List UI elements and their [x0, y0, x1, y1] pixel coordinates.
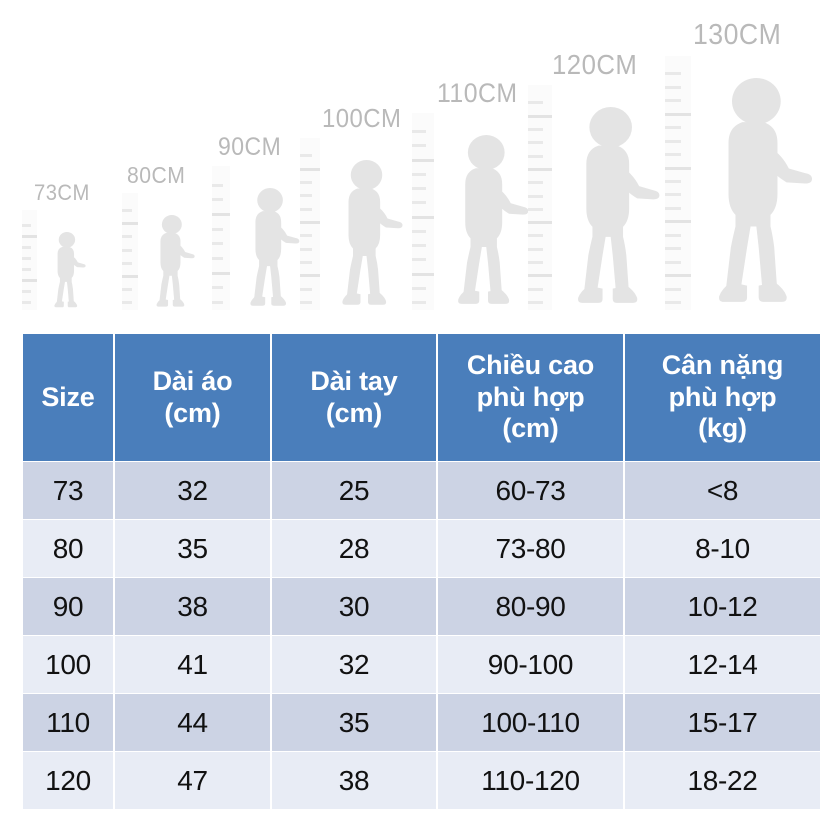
ruler-tick	[528, 288, 543, 291]
cell-sleeve-length: 38	[272, 752, 436, 809]
cell-size: 100	[23, 636, 113, 693]
header-line: (kg)	[698, 413, 747, 443]
child-silhouette-icon	[242, 188, 305, 310]
ruler-tick	[22, 268, 31, 271]
ruler-tick	[528, 261, 543, 264]
ruler-tick	[665, 207, 681, 210]
header-line: (cm)	[502, 413, 558, 443]
cell-shirt-length: 47	[115, 752, 270, 809]
ruler-tick	[212, 184, 223, 187]
ruler-tick	[528, 155, 543, 158]
ruler-tick	[300, 181, 312, 184]
child-silhouette-icon	[332, 160, 410, 310]
height-label-73cm: 73CM	[34, 180, 90, 206]
ruler-tick	[22, 279, 37, 282]
ruler-tick	[122, 301, 132, 304]
ruler-tick	[665, 274, 691, 277]
column-header-size: Size	[23, 334, 113, 461]
ruler-tick	[412, 144, 426, 147]
ruler-tick	[665, 86, 681, 89]
cell-weight: 8-10	[625, 520, 820, 577]
ruler-tick	[665, 167, 691, 170]
ruler-tick	[528, 234, 543, 237]
cell-size: 120	[23, 752, 113, 809]
table-row: 80352873-808-10	[23, 520, 820, 577]
ruler-tick	[122, 235, 132, 238]
child-silhouette-icon	[49, 232, 90, 310]
ruler-tick	[412, 244, 426, 247]
figure-group-130cm	[665, 32, 826, 310]
ruler-tick	[528, 221, 552, 224]
column-header-sleeve-length: Dài tay (cm)	[272, 334, 436, 461]
ruler-tick	[528, 301, 543, 304]
table-row: 1104435100-11015-17	[23, 694, 820, 751]
ruler-tick	[22, 301, 31, 304]
ruler-tick	[412, 187, 426, 190]
header-line: (cm)	[326, 398, 382, 428]
cell-shirt-length: 35	[115, 520, 270, 577]
ruler-tick	[412, 130, 426, 133]
height-label-100cm: 100CM	[322, 103, 401, 134]
cell-height: 100-110	[438, 694, 623, 751]
ruler-tick	[412, 273, 434, 276]
ruler-tick	[665, 153, 681, 156]
cell-height: 110-120	[438, 752, 623, 809]
cell-sleeve-length: 32	[272, 636, 436, 693]
ruler-tick	[300, 208, 312, 211]
ruler-tick	[412, 230, 426, 233]
ruler-tick	[412, 159, 434, 162]
measuring-ruler-icon	[528, 85, 552, 310]
height-label-90cm: 90CM	[218, 133, 281, 162]
ruler-tick	[665, 234, 681, 237]
ruler-tick	[122, 288, 132, 291]
cell-size: 73	[23, 462, 113, 519]
cell-size: 80	[23, 520, 113, 577]
header-line: Chiều cao	[467, 350, 594, 380]
figure-group-90cm	[212, 142, 307, 310]
height-chart-illustration: 73CM80CM90CM100CM110CM120CM130CM	[0, 0, 837, 320]
cell-shirt-length: 38	[115, 578, 270, 635]
ruler-tick	[665, 180, 681, 183]
ruler-tick	[528, 168, 552, 171]
header-line: Dài áo	[153, 366, 233, 396]
header-line: Dài tay	[310, 366, 397, 396]
ruler-tick	[122, 249, 132, 252]
ruler-tick	[22, 224, 31, 227]
cell-height: 90-100	[438, 636, 623, 693]
ruler-tick	[665, 113, 691, 116]
ruler-tick	[412, 258, 426, 261]
ruler-tick	[665, 99, 681, 102]
table-row: 100413290-10012-14	[23, 636, 820, 693]
ruler-tick	[665, 72, 681, 75]
ruler-tick	[528, 181, 543, 184]
cell-sleeve-length: 28	[272, 520, 436, 577]
figure-group-120cm	[528, 61, 672, 310]
ruler-tick	[665, 301, 681, 304]
ruler-tick	[528, 274, 552, 277]
measuring-ruler-icon	[412, 113, 434, 310]
ruler-tick	[665, 193, 681, 196]
header-line: phù hợp	[669, 382, 777, 412]
ruler-tick	[665, 140, 681, 143]
child-silhouette-icon	[150, 215, 199, 310]
ruler-tick	[300, 248, 312, 251]
height-label-120cm: 120CM	[552, 49, 637, 81]
child-silhouette-icon	[703, 78, 824, 310]
ruler-tick	[300, 234, 312, 237]
ruler-tick	[212, 228, 223, 231]
figure-group-80cm	[122, 169, 201, 310]
ruler-tick	[300, 194, 312, 197]
header-line: Size	[41, 382, 94, 412]
cell-shirt-length: 41	[115, 636, 270, 693]
column-header-shirt-length: Dài áo (cm)	[115, 334, 270, 461]
cell-height: 80-90	[438, 578, 623, 635]
height-label-130cm: 130CM	[693, 19, 781, 52]
cell-weight: <8	[625, 462, 820, 519]
cell-height: 73-80	[438, 520, 623, 577]
measuring-ruler-icon	[300, 138, 320, 310]
ruler-tick	[300, 274, 320, 277]
column-header-weight: Cân nặng phù hợp (kg)	[625, 334, 820, 461]
ruler-tick	[300, 301, 312, 304]
table-row: 73322560-73<8	[23, 462, 820, 519]
ruler-tick	[528, 208, 543, 211]
child-silhouette-icon	[564, 107, 670, 310]
table-body: 73322560-73<880352873-808-1090383080-901…	[23, 462, 820, 809]
cell-weight: 12-14	[625, 636, 820, 693]
cell-sleeve-length: 25	[272, 462, 436, 519]
ruler-tick	[528, 141, 543, 144]
ruler-tick	[212, 286, 223, 289]
ruler-tick	[212, 272, 230, 275]
ruler-tick	[412, 173, 426, 176]
ruler-tick	[528, 248, 543, 251]
ruler-tick	[300, 221, 320, 224]
ruler-tick	[122, 209, 132, 212]
ruler-tick	[528, 128, 543, 131]
ruler-tick	[412, 301, 426, 304]
ruler-tick	[212, 301, 223, 304]
ruler-tick	[300, 168, 320, 171]
header-row: Size Dài áo (cm) Dài tay (cm) Chiều cao …	[23, 334, 820, 461]
ruler-tick	[665, 126, 681, 129]
table-row: 1204738110-12018-22	[23, 752, 820, 809]
ruler-tick	[212, 257, 223, 260]
ruler-tick	[528, 195, 543, 198]
measuring-ruler-icon	[122, 193, 138, 310]
ruler-tick	[22, 257, 31, 260]
ruler-tick	[665, 220, 691, 223]
cell-weight: 18-22	[625, 752, 820, 809]
cell-height: 60-73	[438, 462, 623, 519]
table-row: 90383080-9010-12	[23, 578, 820, 635]
header-line: Cân nặng	[662, 350, 783, 380]
ruler-tick	[122, 262, 132, 265]
measuring-ruler-icon	[22, 210, 37, 310]
cell-shirt-length: 32	[115, 462, 270, 519]
figure-group-100cm	[300, 114, 412, 310]
ruler-tick	[22, 290, 31, 293]
cell-shirt-length: 44	[115, 694, 270, 751]
ruler-tick	[300, 261, 312, 264]
cell-size: 90	[23, 578, 113, 635]
ruler-tick	[665, 247, 681, 250]
height-label-110cm: 110CM	[437, 78, 518, 109]
ruler-tick	[212, 242, 223, 245]
ruler-tick	[528, 101, 543, 104]
ruler-tick	[300, 154, 312, 157]
ruler-tick	[122, 222, 138, 225]
cell-sleeve-length: 30	[272, 578, 436, 635]
ruler-tick	[122, 275, 138, 278]
ruler-tick	[22, 235, 37, 238]
table-header: Size Dài áo (cm) Dài tay (cm) Chiều cao …	[23, 334, 820, 461]
ruler-tick	[412, 201, 426, 204]
header-line: phù hợp	[477, 382, 585, 412]
measuring-ruler-icon	[665, 56, 691, 310]
ruler-tick	[665, 288, 681, 291]
ruler-tick	[412, 287, 426, 290]
ruler-tick	[665, 261, 681, 264]
size-chart-table: Size Dài áo (cm) Dài tay (cm) Chiều cao …	[21, 333, 822, 810]
cell-weight: 15-17	[625, 694, 820, 751]
figure-group-110cm	[412, 89, 539, 310]
ruler-tick	[412, 216, 434, 219]
child-silhouette-icon	[446, 135, 537, 310]
ruler-tick	[528, 115, 552, 118]
height-label-80cm: 80CM	[127, 162, 185, 189]
cell-sleeve-length: 35	[272, 694, 436, 751]
measuring-ruler-icon	[212, 166, 230, 310]
ruler-tick	[212, 213, 230, 216]
cell-weight: 10-12	[625, 578, 820, 635]
ruler-tick	[212, 198, 223, 201]
header-line: (cm)	[164, 398, 220, 428]
cell-size: 110	[23, 694, 113, 751]
ruler-tick	[300, 288, 312, 291]
column-header-height: Chiều cao phù hợp (cm)	[438, 334, 623, 461]
ruler-tick	[22, 246, 31, 249]
